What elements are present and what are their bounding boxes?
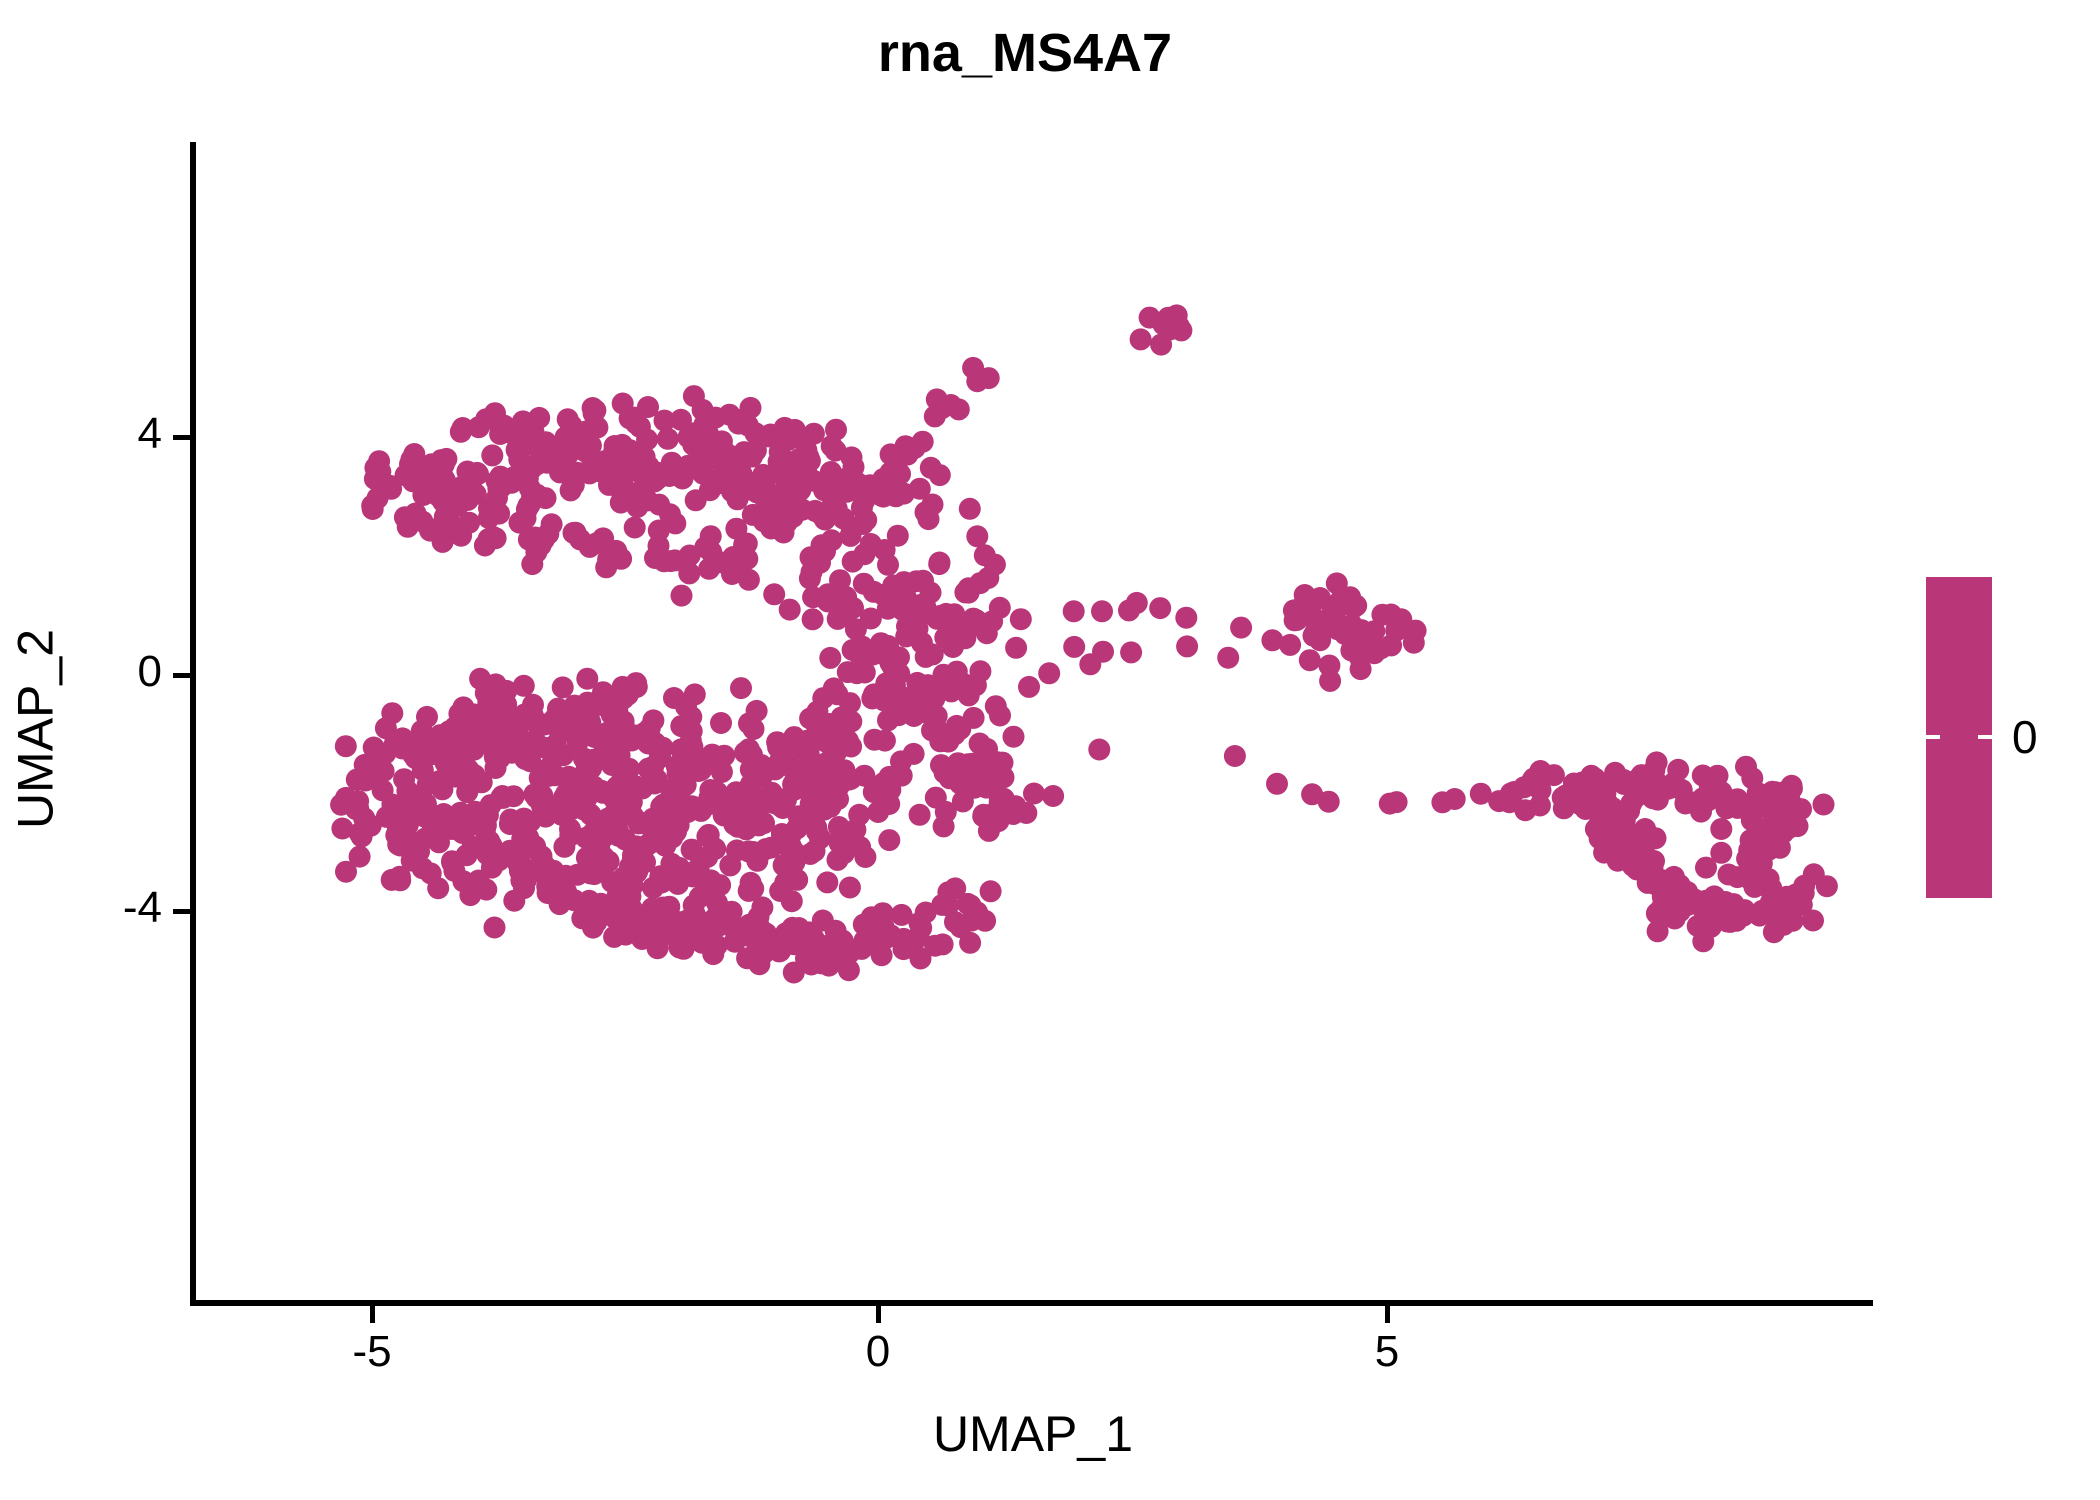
x-axis-title: UMAP_1 (193, 1405, 1873, 1463)
x-tick-label-0: 0 (778, 1330, 978, 1374)
y-tick-mark-4 (173, 435, 190, 440)
x-tick-label-neg5: -5 (272, 1330, 472, 1374)
x-tick-label-5: 5 (1287, 1330, 1487, 1374)
colorbar-tick-left (1926, 735, 1940, 739)
colorbar-legend[interactable] (1926, 577, 1992, 898)
page-title: rna_MS4A7 (0, 22, 2050, 84)
figure-canvas: rna_MS4A7 4 0 -4 -5 0 5 UMAP_1 UMAP_2 0 (0, 0, 2100, 1500)
plot-panel (193, 142, 1873, 1303)
x-tick-mark-neg5 (370, 1306, 375, 1323)
x-tick-mark-5 (1385, 1306, 1390, 1323)
y-axis-title: UMAP_2 (7, 149, 65, 1310)
x-tick-mark-0 (876, 1306, 881, 1323)
colorbar-tick-right (1978, 735, 1992, 739)
y-tick-mark-0 (173, 673, 190, 678)
y-axis-line (190, 142, 196, 1306)
x-axis-line (190, 1300, 1873, 1306)
y-tick-mark-neg4 (173, 909, 190, 914)
colorbar-tick-label-0: 0 (2012, 710, 2038, 764)
